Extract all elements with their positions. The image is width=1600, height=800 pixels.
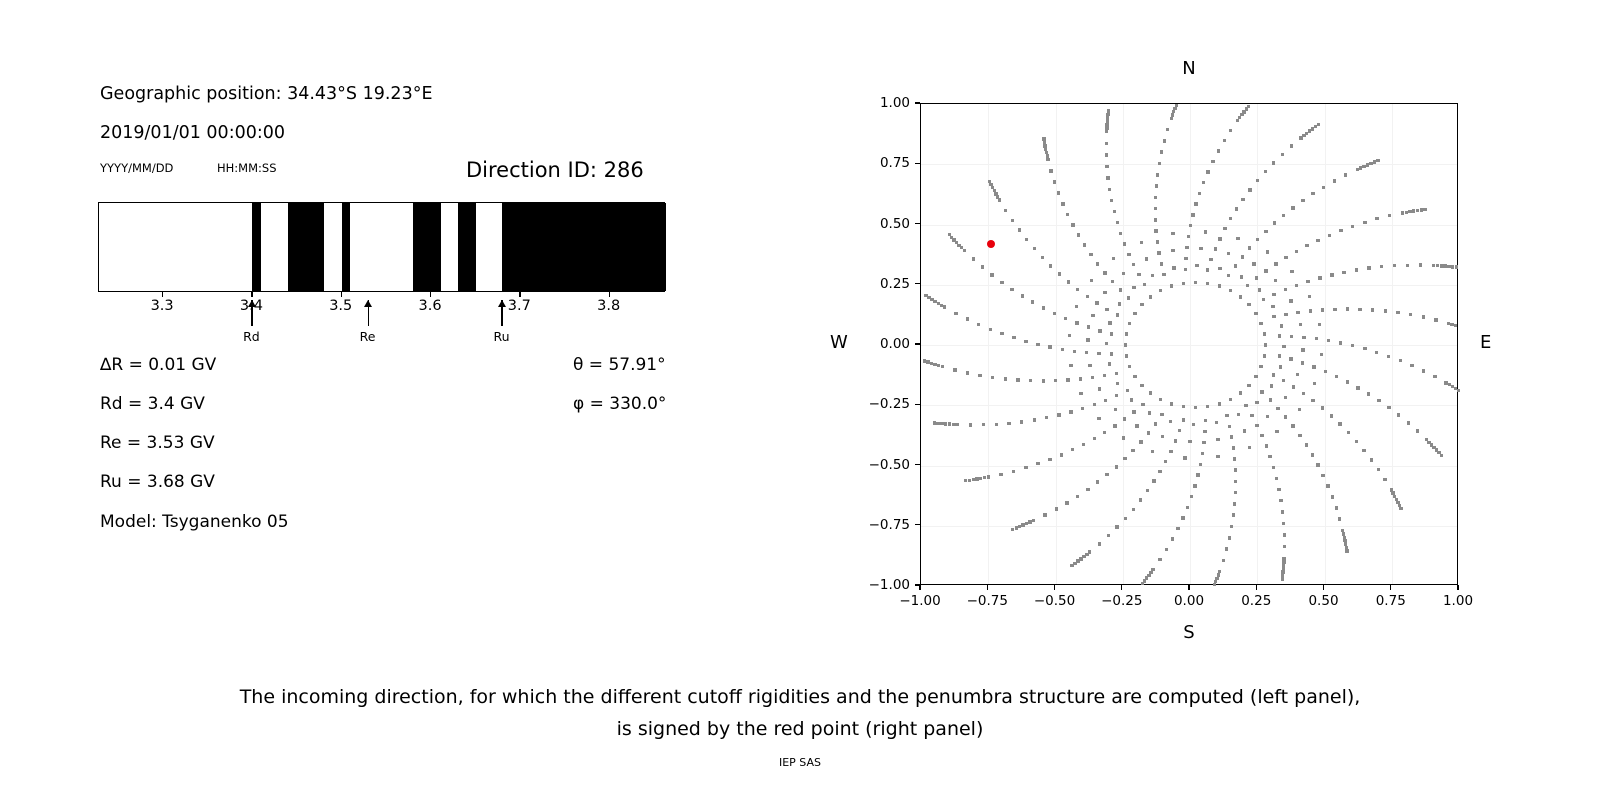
direction-point: [1053, 180, 1056, 183]
penumbra-marker-label-rd: Rd: [243, 329, 260, 344]
direction-point: [944, 422, 947, 425]
direction-point: [1457, 389, 1460, 392]
direction-point: [1085, 351, 1088, 354]
direction-point: [1282, 522, 1285, 525]
direction-point: [1380, 265, 1383, 268]
direction-point: [1345, 549, 1348, 552]
direction-point: [1115, 372, 1118, 375]
direction-point: [982, 423, 985, 426]
direction-point: [1232, 513, 1235, 516]
direction-point: [1440, 454, 1443, 457]
direction-point: [1342, 271, 1345, 274]
direction-point: [1123, 417, 1126, 420]
direction-point: [1305, 443, 1308, 446]
direction-point: [1235, 207, 1238, 210]
direction-point: [1347, 431, 1350, 434]
direction-point: [1193, 484, 1196, 487]
direction-point: [1284, 415, 1287, 418]
direction-point: [1139, 498, 1142, 501]
direction-point: [1154, 229, 1157, 232]
direction-point: [1115, 394, 1118, 397]
direction-point: [1377, 468, 1380, 471]
direction-point: [1233, 457, 1236, 460]
direction-point: [1302, 336, 1305, 339]
direction-point: [1156, 240, 1159, 243]
direction-point: [1308, 295, 1311, 298]
direction-point: [1156, 173, 1159, 176]
direction-point: [1407, 421, 1410, 424]
direction-point: [1246, 284, 1249, 287]
direction-point: [1172, 266, 1175, 269]
direction-point: [1290, 144, 1293, 147]
x-tick: [1256, 585, 1257, 590]
direction-point: [1113, 210, 1116, 213]
direction-point: [1247, 384, 1250, 387]
direction-point: [926, 360, 929, 363]
direction-point: [1155, 184, 1158, 187]
penumbra-tick-label: 3.4: [240, 298, 263, 314]
direction-point: [1098, 387, 1101, 390]
direction-point: [1260, 390, 1263, 393]
direction-point: [1298, 434, 1301, 437]
direction-point: [1065, 501, 1068, 504]
direction-point: [991, 376, 994, 379]
direction-point: [1061, 348, 1064, 351]
direction-point: [1042, 137, 1045, 140]
parameter-3: Ru = 3.68 GV: [100, 472, 215, 492]
direction-point: [1192, 423, 1195, 426]
direction-point: [1355, 268, 1358, 271]
direction-point: [954, 312, 957, 315]
direction-point: [1148, 411, 1151, 414]
x-tick: [1121, 585, 1122, 590]
direction-point: [936, 422, 939, 425]
direction-point: [1312, 365, 1315, 368]
direction-point: [1110, 352, 1113, 355]
direction-point: [1043, 141, 1046, 144]
direction-point: [1282, 214, 1285, 217]
direction-point: [1423, 208, 1426, 211]
direction-point: [1046, 154, 1049, 157]
angle-parameter-1: φ = 330.0°: [573, 394, 666, 414]
direction-point: [1377, 399, 1380, 402]
direction-point: [1289, 299, 1292, 302]
penumbra-tick-label: 3.3: [151, 298, 174, 314]
direction-point: [978, 374, 981, 377]
direction-point: [1151, 450, 1154, 453]
direction-point: [1137, 273, 1140, 276]
y-tick-label: −0.25: [858, 396, 910, 412]
direction-point: [1258, 288, 1261, 291]
direction-point: [1255, 276, 1258, 279]
direction-point: [1254, 312, 1257, 315]
direction-point: [1239, 295, 1242, 298]
direction-point: [1096, 480, 1099, 483]
direction-point: [1146, 489, 1149, 492]
direction-point: [1162, 273, 1165, 276]
direction-point: [1130, 398, 1133, 401]
direction-point: [1387, 355, 1390, 358]
direction-point: [1033, 418, 1036, 421]
direction-point: [1032, 519, 1035, 522]
direction-point: [1096, 262, 1099, 265]
direction-point: [1045, 416, 1048, 419]
direction-point: [972, 257, 975, 260]
direction-point: [1202, 181, 1205, 184]
direction-point: [998, 198, 1001, 201]
direction-point: [1181, 516, 1184, 519]
direction-point: [1036, 343, 1039, 346]
direction-point: [933, 300, 936, 303]
direction-point: [1171, 232, 1174, 235]
direction-point: [1164, 460, 1167, 463]
penumbra-marker-label-ru: Ru: [493, 329, 509, 344]
direction-point: [1335, 506, 1338, 509]
direction-point: [1280, 324, 1283, 327]
direction-point: [1105, 308, 1108, 311]
direction-point: [1015, 526, 1018, 529]
direction-point: [1122, 272, 1125, 275]
parameter-2: Re = 3.53 GV: [100, 433, 215, 453]
x-tick-label: −0.50: [1034, 593, 1075, 609]
direction-point: [1191, 213, 1194, 216]
direction-point: [1409, 313, 1412, 316]
direction-point: [1091, 376, 1094, 379]
x-tick: [1457, 585, 1458, 590]
direction-point: [983, 476, 986, 479]
direction-point: [1110, 332, 1113, 335]
direction-point: [1141, 403, 1144, 406]
y-tick-label: −1.00: [858, 577, 910, 593]
direction-point: [1234, 468, 1237, 471]
direction-point: [1073, 350, 1076, 353]
direction-point: [1230, 435, 1233, 438]
direction-point: [1278, 334, 1281, 337]
direction-point: [1143, 283, 1146, 286]
direction-point: [1169, 420, 1172, 423]
direction-point: [1454, 324, 1457, 327]
direction-point: [1333, 308, 1336, 311]
direction-point: [1082, 555, 1085, 558]
x-tick: [1188, 585, 1189, 590]
direction-point: [1123, 242, 1126, 245]
direction-point: [1272, 315, 1275, 318]
direction-point: [1291, 206, 1294, 209]
penumbra-marker-arrow-re: [368, 300, 369, 326]
direction-point: [1041, 256, 1044, 259]
direction-point: [940, 422, 943, 425]
x-tick: [919, 585, 920, 590]
direction-point: [1247, 105, 1250, 108]
direction-point: [1275, 430, 1278, 433]
direction-point: [1114, 408, 1117, 411]
selected-direction-point[interactable]: [987, 240, 995, 248]
y-tick-label: 0.00: [858, 336, 910, 352]
direction-point: [1158, 162, 1161, 165]
x-tick-label: −0.25: [1101, 593, 1142, 609]
direction-point: [1422, 369, 1425, 372]
direction-point: [1132, 263, 1135, 266]
direction-point: [1105, 126, 1108, 129]
direction-point: [1159, 398, 1162, 401]
direction-point: [1044, 148, 1047, 151]
y-tick-label: 0.50: [858, 216, 910, 232]
direction-point: [1103, 271, 1106, 274]
direction-point: [1083, 243, 1086, 246]
direction-point: [1166, 128, 1169, 131]
direction-point: [1004, 377, 1007, 380]
direction-point: [1215, 421, 1218, 424]
direction-point: [1011, 528, 1014, 531]
direction-point: [1185, 246, 1188, 249]
x-tick-label: 0.00: [1174, 593, 1204, 609]
direction-point: [1233, 502, 1236, 505]
direction-point: [1159, 289, 1162, 292]
direction-point: [1322, 186, 1325, 189]
x-tick: [1054, 585, 1055, 590]
direction-point: [1256, 179, 1259, 182]
direction-point: [1093, 437, 1096, 440]
direction-point: [1075, 321, 1078, 324]
direction-point: [1086, 295, 1089, 298]
incoming-direction-map: [920, 103, 1458, 585]
direction-point: [941, 365, 944, 368]
direction-point: [1263, 354, 1266, 357]
direction-point: [937, 302, 940, 305]
direction-point: [1240, 275, 1243, 278]
direction-point: [1321, 474, 1324, 477]
direction-point: [1301, 361, 1304, 364]
direction-point: [1281, 577, 1284, 580]
direction-point: [1234, 480, 1237, 483]
direction-point: [1393, 264, 1396, 267]
direction-point: [1112, 257, 1115, 260]
direction-point: [1069, 410, 1072, 413]
direction-point: [989, 183, 992, 186]
figure-root: Geographic position: 34.43°S 19.23°E 201…: [0, 0, 1600, 800]
compass-north: N: [1182, 58, 1195, 79]
direction-point: [1237, 413, 1240, 416]
direction-point: [1145, 257, 1148, 260]
direction-point: [1079, 557, 1082, 560]
direction-point: [1157, 251, 1160, 254]
direction-point: [1216, 438, 1219, 441]
direction-point: [1108, 321, 1111, 324]
direction-point: [1306, 280, 1309, 283]
direction-point: [1018, 525, 1021, 528]
penumbra-tick: [251, 292, 252, 297]
direction-point: [1160, 262, 1163, 265]
direction-point: [1265, 444, 1268, 447]
direction-point: [1276, 407, 1279, 410]
direction-point: [1327, 339, 1330, 342]
direction-point: [1113, 424, 1116, 427]
direction-point: [1351, 344, 1354, 347]
penumbra-tick: [430, 292, 431, 297]
direction-point: [1259, 322, 1262, 325]
direction-point: [1103, 291, 1106, 294]
penumbra-tick-label: 3.8: [597, 298, 620, 314]
direction-point: [1106, 176, 1109, 179]
direction-point: [979, 477, 982, 480]
direction-point: [1116, 221, 1119, 224]
x-tick-label: −1.00: [899, 593, 940, 609]
direction-point: [1119, 288, 1122, 291]
x-tick: [1390, 585, 1391, 590]
penumbra-axis: 3.33.43.53.63.73.8: [98, 292, 665, 300]
direction-point: [923, 359, 926, 362]
direction-point: [1270, 384, 1273, 387]
direction-point: [1225, 414, 1228, 417]
direction-point: [1025, 238, 1028, 241]
direction-point: [1147, 431, 1150, 434]
direction-point: [1264, 343, 1267, 346]
direction-point: [972, 478, 975, 481]
direction-point: [1079, 377, 1082, 380]
direction-point: [1160, 150, 1163, 153]
direction-point: [1158, 470, 1161, 473]
direction-point: [1171, 249, 1174, 252]
direction-point: [1093, 403, 1096, 406]
direction-point: [1256, 238, 1259, 241]
direction-point: [994, 192, 997, 195]
direction-point: [1025, 522, 1028, 525]
direction-point: [1036, 462, 1039, 465]
direction-point: [1170, 284, 1173, 287]
direction-point: [1387, 406, 1390, 409]
direction-point: [1339, 229, 1342, 232]
direction-point: [1024, 340, 1027, 343]
direction-point: [1346, 380, 1349, 383]
direction-point: [1284, 313, 1287, 316]
direction-point: [1211, 160, 1214, 163]
direction-point: [1351, 225, 1354, 228]
direction-point: [1268, 455, 1271, 458]
direction-point: [989, 328, 992, 331]
direction-point: [1024, 466, 1027, 469]
x-tick-label: 0.75: [1376, 593, 1406, 609]
direction-point: [1060, 453, 1063, 456]
direction-point: [1021, 523, 1024, 526]
direction-point: [1133, 375, 1136, 378]
penumbra-tick-label: 3.5: [329, 298, 352, 314]
direction-point: [1043, 513, 1046, 516]
direction-point: [1105, 473, 1108, 476]
direction-point: [966, 317, 969, 320]
direction-point: [1279, 365, 1282, 368]
direction-point: [1174, 439, 1177, 442]
direction-point: [1184, 257, 1187, 260]
direction-point: [1218, 402, 1221, 405]
direction-point: [1149, 391, 1152, 394]
direction-point: [1154, 422, 1157, 425]
direction-point: [1202, 441, 1205, 444]
direction-point: [1252, 262, 1255, 265]
direction-point: [1243, 429, 1246, 432]
direction-point: [1103, 374, 1106, 377]
x-tick: [987, 585, 988, 590]
direction-point: [1248, 188, 1251, 191]
direction-point: [1095, 301, 1098, 304]
footer-credit: IEP SAS: [0, 756, 1600, 769]
caption-line-1: The incoming direction, for which the di…: [0, 686, 1600, 708]
direction-point: [1272, 293, 1275, 296]
direction-point: [1049, 264, 1052, 267]
x-tick: [1323, 585, 1324, 590]
direction-point: [1367, 392, 1370, 395]
y-tick-label: −0.75: [858, 517, 910, 533]
direction-point: [1105, 342, 1108, 345]
direction-point: [943, 305, 946, 308]
direction-point: [1376, 159, 1379, 162]
direction-point: [964, 479, 967, 482]
y-tick-label: 0.25: [858, 276, 910, 292]
direction-point: [1301, 199, 1304, 202]
direction-point: [1399, 359, 1402, 362]
direction-point: [1196, 473, 1199, 476]
caption-line-2: is signed by the red point (right panel): [0, 718, 1600, 740]
direction-point: [1255, 424, 1258, 427]
direction-point: [1064, 317, 1067, 320]
direction-point: [1298, 408, 1301, 411]
direction-point: [1248, 446, 1251, 449]
direction-point: [1275, 477, 1278, 480]
direction-point: [1264, 170, 1267, 173]
direction-point: [1105, 165, 1108, 168]
direction-point: [1266, 250, 1269, 253]
direction-point: [1048, 345, 1051, 348]
direction-point: [1053, 312, 1056, 315]
direction-point: [987, 475, 990, 478]
direction-point: [1198, 192, 1201, 195]
direction-point: [1182, 405, 1185, 408]
direction-point: [1057, 191, 1060, 194]
direction-point: [1317, 123, 1320, 126]
direction-point: [1241, 255, 1244, 258]
direction-point: [1160, 413, 1163, 416]
direction-point: [1315, 337, 1318, 340]
direction-point: [1284, 288, 1287, 291]
direction-point: [937, 364, 940, 367]
direction-point: [1105, 123, 1108, 126]
direction-point: [1110, 199, 1113, 202]
direction-point: [1170, 117, 1173, 120]
direction-point: [948, 233, 951, 236]
direction-point: [1318, 276, 1321, 279]
direction-point: [1247, 303, 1250, 306]
direction-point: [1434, 318, 1437, 321]
direction-point: [1371, 308, 1374, 311]
direction-point: [1132, 410, 1135, 413]
direction-point: [1244, 404, 1247, 407]
direction-point: [1182, 418, 1185, 421]
x-tick-label: 0.50: [1308, 593, 1338, 609]
direction-point: [1375, 217, 1378, 220]
direction-point: [1106, 120, 1109, 123]
direction-point: [1266, 415, 1269, 418]
direction-point: [1152, 479, 1155, 482]
penumbra-marker-label-re: Re: [360, 329, 376, 344]
direction-point: [1433, 375, 1436, 378]
direction-point: [1042, 379, 1045, 382]
direction-point: [1081, 407, 1084, 410]
direction-point: [1236, 237, 1239, 240]
direction-point: [1098, 542, 1101, 545]
direction-point: [1262, 298, 1265, 301]
direction-point: [1358, 308, 1361, 311]
direction-point: [1302, 392, 1305, 395]
direction-point: [1283, 545, 1286, 548]
